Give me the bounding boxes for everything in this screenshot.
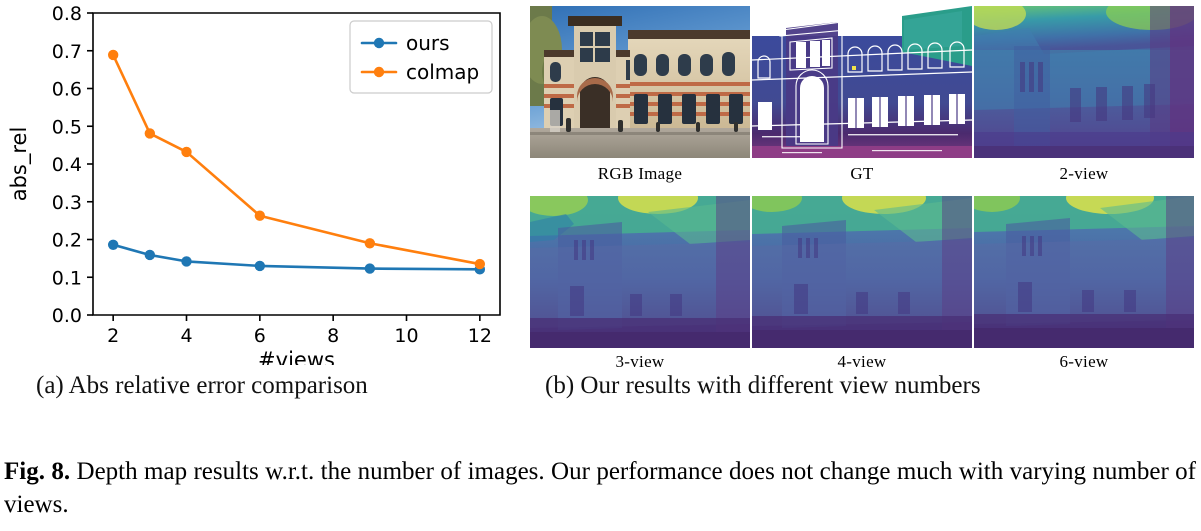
- pred-depth-thumbnail-4view: [752, 196, 972, 348]
- image-cell-4view: 4-view: [752, 196, 972, 372]
- pred-depth-thumbnail-6view: [974, 196, 1194, 348]
- figure-8: 0.00.10.20.30.40.50.60.70.824681012#view…: [0, 0, 1201, 531]
- data-point: [255, 261, 265, 271]
- x-tick-label: 10: [394, 325, 418, 347]
- y-tick-label: 0.8: [52, 3, 82, 25]
- image-caption: 4-view: [752, 352, 972, 372]
- data-point: [145, 250, 155, 260]
- legend-label: ours: [406, 31, 450, 55]
- pred-depth-thumbnail-3view: [530, 196, 750, 348]
- figure-label: Fig. 8.: [4, 458, 70, 485]
- gt-depth-thumbnail: [752, 6, 972, 158]
- image-caption: 2-view: [974, 164, 1194, 184]
- pred-depth-thumbnail-2view: [974, 6, 1194, 158]
- image-caption: GT: [752, 164, 972, 184]
- data-point: [181, 256, 191, 266]
- data-point: [145, 128, 155, 138]
- legend-swatch-marker: [374, 38, 384, 48]
- data-point: [365, 263, 375, 273]
- legend-swatch-marker: [374, 67, 384, 77]
- series-line: [113, 245, 480, 270]
- legend-label: colmap: [406, 60, 479, 84]
- data-point: [255, 211, 265, 221]
- image-cell-2view: 2-view: [974, 6, 1194, 184]
- data-point: [365, 238, 375, 248]
- data-point: [108, 50, 118, 60]
- figure-caption: Fig. 8. Depth map results w.r.t. the num…: [4, 455, 1196, 522]
- x-tick-label: 2: [107, 325, 119, 347]
- image-row-top: RGB Image: [530, 6, 1195, 184]
- image-cell-rgb: RGB Image: [530, 6, 750, 184]
- y-tick-label: 0.6: [52, 79, 82, 101]
- chart-svg: 0.00.10.20.30.40.50.60.70.824681012#view…: [0, 0, 520, 365]
- image-row-bottom: 3-view: [530, 196, 1195, 372]
- y-axis-title: abs_rel: [7, 127, 32, 202]
- data-point: [475, 259, 485, 269]
- series-ours: [108, 240, 485, 275]
- depth-results-grid: RGB Image: [530, 6, 1195, 366]
- chart-legend: ourscolmap: [350, 21, 492, 93]
- image-caption: 6-view: [974, 352, 1194, 372]
- data-point: [108, 240, 118, 250]
- image-cell-3view: 3-view: [530, 196, 750, 372]
- y-tick-label: 0.4: [52, 154, 82, 176]
- data-point: [181, 147, 191, 157]
- x-tick-label: 8: [327, 325, 339, 347]
- y-tick-label: 0.0: [52, 305, 82, 327]
- rgb-image-thumbnail: [530, 6, 750, 158]
- y-tick-label: 0.5: [52, 116, 82, 138]
- image-caption: RGB Image: [530, 164, 750, 184]
- y-tick-label: 0.1: [52, 267, 82, 289]
- x-axis-title: #views: [258, 348, 335, 365]
- x-tick-label: 6: [254, 325, 266, 347]
- y-tick-label: 0.7: [52, 41, 82, 63]
- figure-caption-text: Depth map results w.r.t. the number of i…: [4, 458, 1196, 518]
- x-tick-label: 12: [468, 325, 492, 347]
- y-tick-label: 0.2: [52, 230, 82, 252]
- subcaption-a: (a) Abs relative error comparison: [36, 372, 368, 400]
- x-tick-label: 4: [180, 325, 192, 347]
- image-cell-6view: 6-view: [974, 196, 1194, 372]
- y-tick-label: 0.3: [52, 192, 82, 214]
- image-cell-gt: GT: [752, 6, 972, 184]
- image-caption: 3-view: [530, 352, 750, 372]
- subcaption-b: (b) Our results with different view numb…: [545, 372, 981, 400]
- abs-rel-line-chart: 0.00.10.20.30.40.50.60.70.824681012#view…: [0, 0, 520, 365]
